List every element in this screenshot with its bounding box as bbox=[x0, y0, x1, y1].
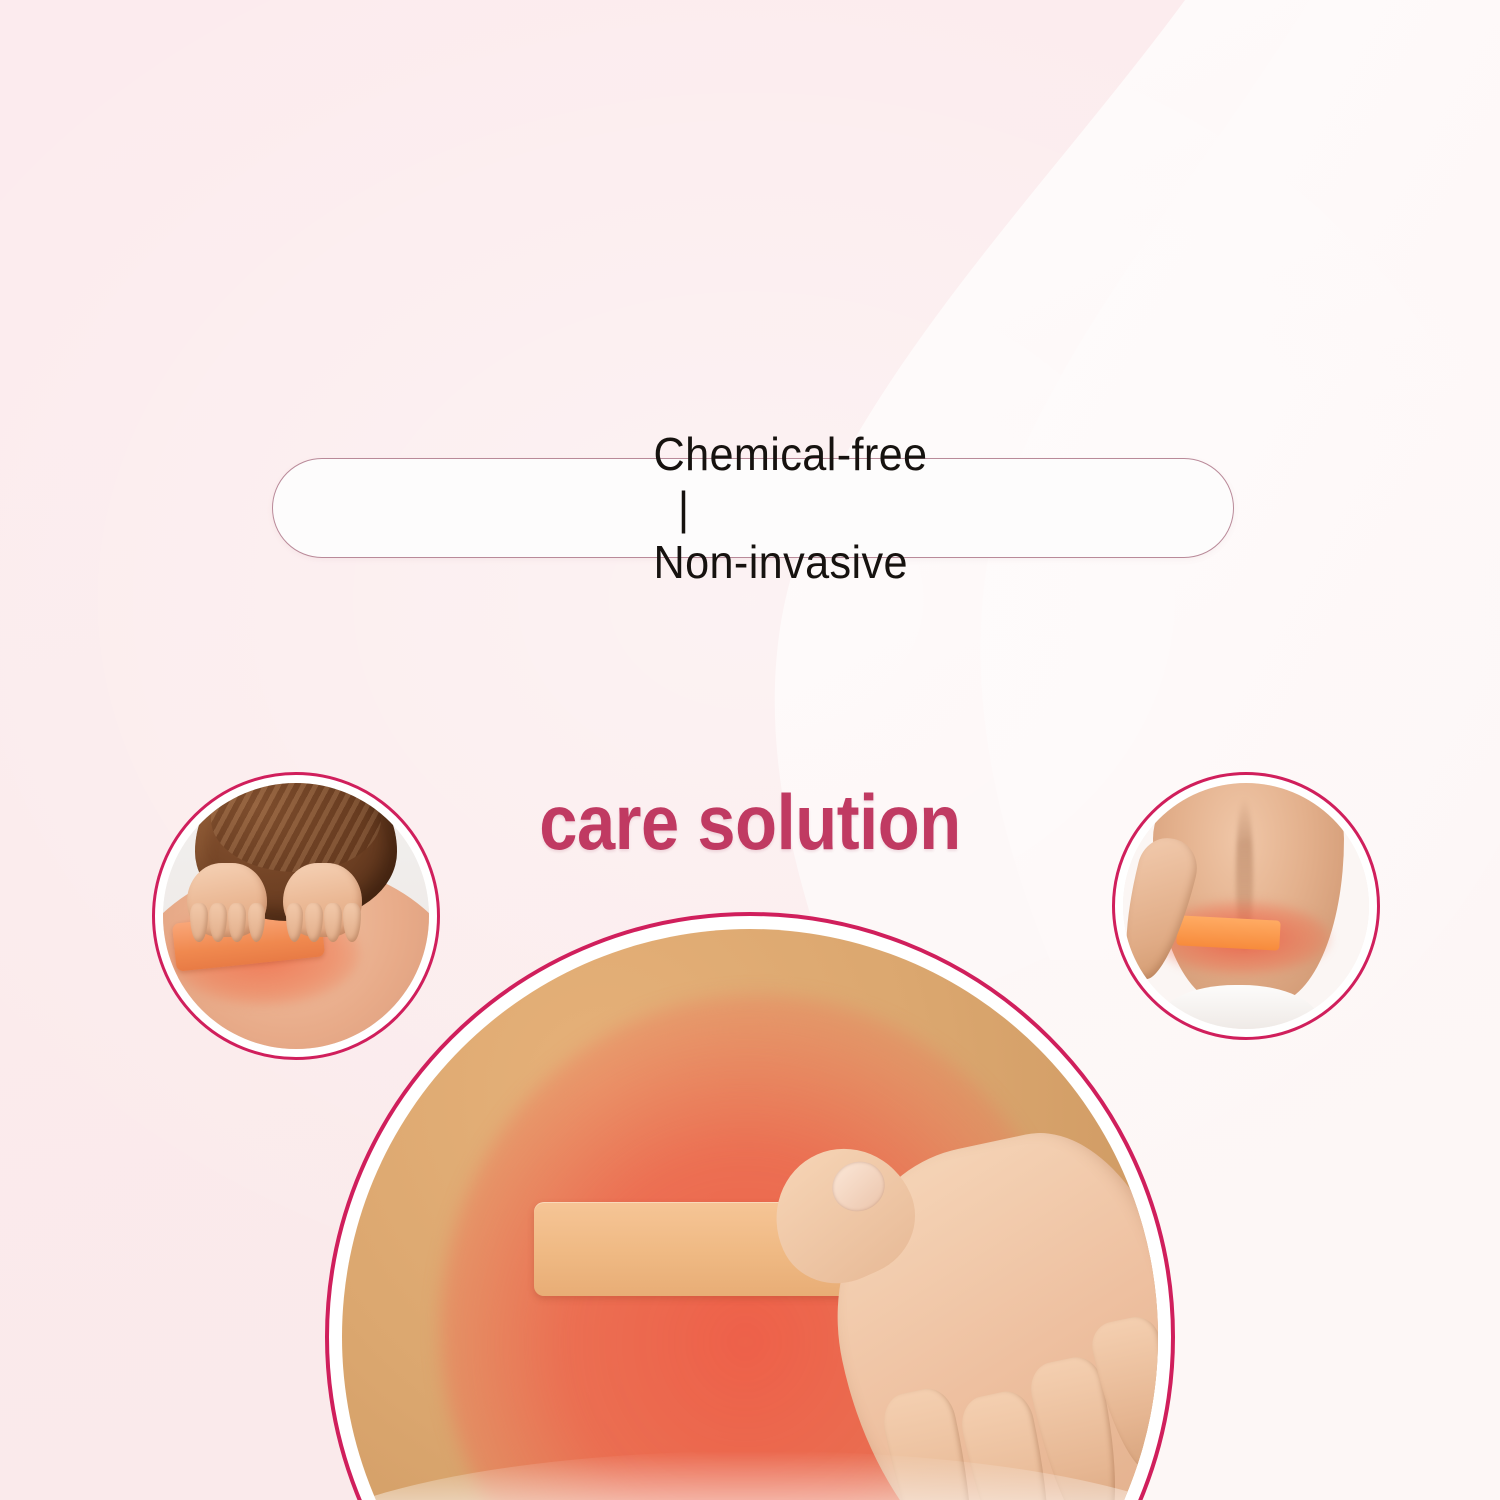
feature-label-chemical-free: Chemical-free bbox=[653, 428, 927, 480]
abdomen-photo-main bbox=[325, 912, 1175, 1500]
neck-photo-left-hand bbox=[187, 863, 267, 937]
abdomen-photo bbox=[342, 929, 1158, 1500]
feature-pill-text: Chemical-free | Non-invasive bbox=[579, 373, 927, 643]
finger-icon bbox=[305, 903, 323, 942]
feature-pill: Chemical-free | Non-invasive bbox=[272, 458, 1234, 558]
feature-separator: | bbox=[653, 481, 713, 535]
back-photo-patch bbox=[1176, 916, 1281, 951]
lower-back-photo bbox=[1123, 783, 1369, 1029]
feature-label-non-invasive: Non-invasive bbox=[653, 536, 907, 588]
finger-icon bbox=[209, 903, 227, 942]
neck-photo-right-hand bbox=[283, 863, 363, 937]
banner-canvas: A clean & safe period care solution Chem… bbox=[0, 0, 1500, 1500]
